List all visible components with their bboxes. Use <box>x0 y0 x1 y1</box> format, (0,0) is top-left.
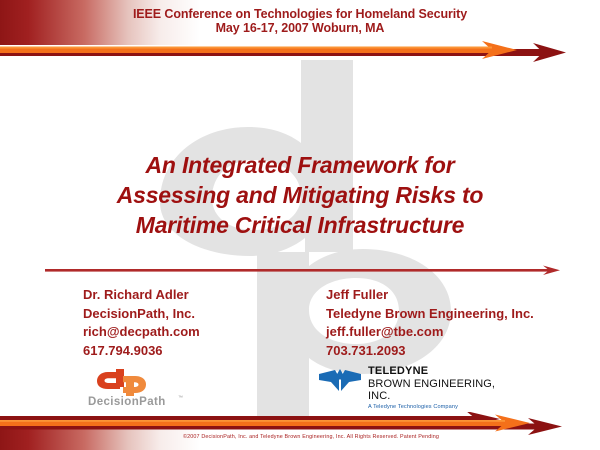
svg-text:™: ™ <box>178 395 183 401</box>
section-divider-arrow <box>0 262 600 280</box>
title-line-2: Assessing and Mitigating Risks to <box>60 180 540 210</box>
author-left: Dr. Richard Adler DecisionPath, Inc. ric… <box>83 286 200 360</box>
teledyne-division: BROWN ENGINEERING, INC. <box>368 378 508 402</box>
conference-date-location: May 16-17, 2007 Woburn, MA <box>0 22 600 36</box>
author-right-email[interactable]: jeff.fuller@tbe.com <box>326 323 534 342</box>
title-line-3: Maritime Critical Infrastructure <box>60 210 540 240</box>
teledyne-tagline: A Teledyne Technologies Company <box>368 403 508 411</box>
conference-header: IEEE Conference on Technologies for Home… <box>0 8 600 35</box>
author-right: Jeff Fuller Teledyne Brown Engineering, … <box>326 286 534 360</box>
teledyne-name: TELEDYNE <box>368 366 508 378</box>
author-left-name: Dr. Richard Adler <box>83 286 200 305</box>
presentation-slide: IEEE Conference on Technologies for Home… <box>0 0 600 450</box>
conference-name: IEEE Conference on Technologies for Home… <box>0 8 600 22</box>
svg-text:DecisionPath: DecisionPath <box>88 396 166 408</box>
teledyne-brown-engineering-logo: TELEDYNE BROWN ENGINEERING, INC. A Teled… <box>318 366 508 406</box>
author-right-phone: 703.731.2093 <box>326 342 534 361</box>
page-title: An Integrated Framework for Assessing an… <box>60 150 540 240</box>
author-right-name: Jeff Fuller <box>326 286 534 305</box>
author-left-phone: 617.794.9036 <box>83 342 200 361</box>
author-left-email[interactable]: rich@decpath.com <box>83 323 200 342</box>
decisionpath-logo: DecisionPath ™ <box>86 366 196 408</box>
title-line-1: An Integrated Framework for <box>60 150 540 180</box>
author-right-org: Teledyne Brown Engineering, Inc. <box>326 305 534 324</box>
top-arrow-band <box>0 38 600 68</box>
author-block: Dr. Richard Adler DecisionPath, Inc. ric… <box>0 286 600 366</box>
author-left-org: DecisionPath, Inc. <box>83 305 200 324</box>
copyright-notice: ©2007 DecisionPath, Inc. and Teledyne Br… <box>0 434 600 440</box>
teledyne-chevron-icon <box>318 367 362 393</box>
